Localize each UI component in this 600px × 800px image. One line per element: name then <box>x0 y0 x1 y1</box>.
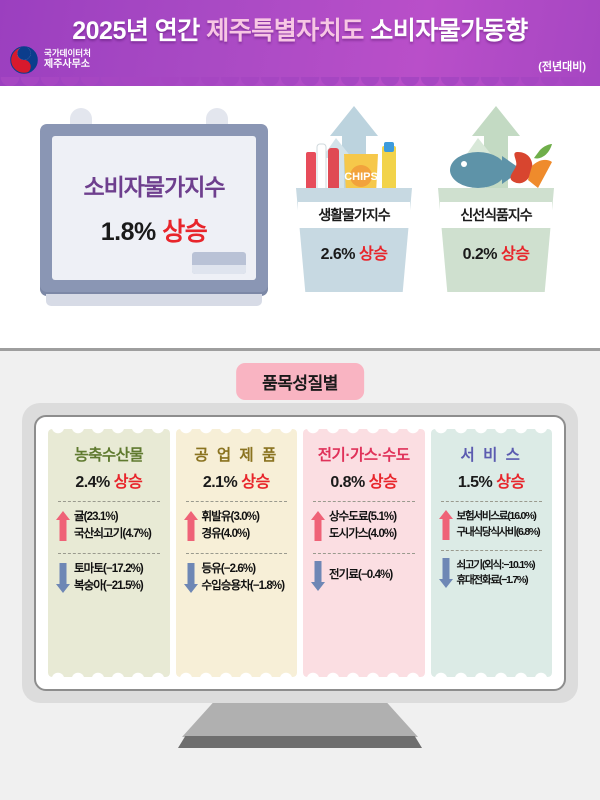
agency-line-1: 국가데이터처 <box>44 49 91 59</box>
goods-illustration-icon: CHIPS <box>304 136 408 194</box>
rising-items-group-2: 상수도료(5.1%) 도시가스(4.0%) <box>309 509 419 544</box>
sub-index-value-row-1: 0.2% 상승 <box>438 240 554 264</box>
item: 도시가스(4.0%) <box>329 526 419 543</box>
rising-items-group-1: 휘발유(3.0%) 경유(4.0%) <box>182 509 292 544</box>
board-base <box>46 294 262 306</box>
category-card-industrial: 공 업 제 품 2.1% 상승 휘발유(3.0%) 경유(4.0%) <box>176 429 298 677</box>
arrow-up-icon <box>56 511 70 541</box>
sub-index-value-1: 0.2% <box>463 246 497 263</box>
item: 전기료(−0.4%) <box>329 567 419 584</box>
headline-indices-section: 소비자물가지수 1.8% 상승 <box>0 86 600 348</box>
sub-index-value-0: 2.6% <box>321 246 355 263</box>
item: 등유(−2.6%) <box>202 561 292 578</box>
cpi-whiteboard: 소비자물가지수 1.8% 상승 <box>36 108 274 323</box>
sub-index-card-1: 신선식품지수 0.2% 상승 <box>438 188 554 292</box>
sub-index-direction-0: 상승 <box>359 246 387 263</box>
rising-items-0: 귤(23.1%) 국산쇠고기(4.7%) <box>74 509 164 544</box>
divider-dashed <box>313 553 415 554</box>
monitor-screen: 농축수산물 2.4% 상승 귤(23.1%) 국산쇠고기(4.7%) <box>34 415 566 691</box>
category-value-row-1: 2.1% 상승 <box>182 468 292 492</box>
board-frame: 소비자물가지수 1.8% 상승 <box>40 124 268 292</box>
category-title-3: 서 비 스 <box>437 443 547 465</box>
svg-text:CHIPS: CHIPS <box>344 171 378 183</box>
arrow-up-icon <box>439 510 453 540</box>
category-value-0: 2.4% <box>75 474 109 491</box>
item: 휴대전화료(−1.7%) <box>457 573 547 589</box>
divider-dashed <box>58 553 160 554</box>
cpi-direction: 상승 <box>162 218 207 246</box>
arrow-down-icon <box>184 563 198 593</box>
rising-items-3: 보험서비스료(16.0%) 구내식당식사비(6.8%) <box>457 509 547 541</box>
item: 구내식당식사비(6.8%) <box>457 525 547 541</box>
item: 복숭아(−21.5%) <box>74 578 164 595</box>
cpi-label: 소비자물가지수 <box>83 168 224 202</box>
agency-name: 국가데이터처 제주사무소 <box>44 49 91 70</box>
divider-dashed <box>441 501 543 502</box>
monitor-frame: 농축수산물 2.4% 상승 귤(23.1%) 국산쇠고기(4.7%) <box>22 403 578 703</box>
rising-items-group-0: 귤(23.1%) 국산쇠고기(4.7%) <box>54 509 164 544</box>
arrow-up-icon <box>184 511 198 541</box>
category-direction-0: 상승 <box>114 474 142 491</box>
item: 보험서비스료(16.0%) <box>457 509 547 525</box>
arrow-down-icon <box>439 558 453 588</box>
monitor-stand <box>182 703 418 737</box>
falling-items-group-0: 토마토(−17.2%) 복숭아(−21.5%) <box>54 561 164 596</box>
category-title-0: 농축수산물 <box>54 443 164 465</box>
item: 수입승용차(−1.8%) <box>202 578 292 595</box>
eraser-icon <box>192 252 246 274</box>
category-value-row-2: 0.8% 상승 <box>309 468 419 492</box>
comparison-note: (전년대비) <box>538 58 586 74</box>
item: 토마토(−17.2%) <box>74 561 164 578</box>
category-title-1: 공 업 제 품 <box>182 443 292 465</box>
category-direction-2: 상승 <box>369 474 397 491</box>
category-direction-3: 상승 <box>496 474 524 491</box>
category-value-row-3: 1.5% 상승 <box>437 468 547 492</box>
sub-indices-group: CHIPS 생활물가지수 2.6% 상승 <box>288 92 588 332</box>
category-card-services: 서 비 스 1.5% 상승 보험서비스료(16.0%) 구내식당식사비(6.8%… <box>431 429 553 677</box>
arrow-down-icon <box>56 563 70 593</box>
infographic-page: 2025년 연간 제주특별자치도 소비자물가동향 국가데이터처 제주사무소 (전… <box>0 0 600 800</box>
divider-dashed <box>186 501 288 502</box>
monitor-stand-base <box>178 736 422 748</box>
sub-index-label-0: 생활물가지수 <box>298 202 410 228</box>
sub-index-value-row-0: 2.6% 상승 <box>296 240 412 264</box>
category-card-utilities: 전기·가스·수도 0.8% 상승 상수도료(5.1%) 도시가스(4.0%) <box>303 429 425 677</box>
divider-dashed <box>441 550 543 551</box>
rising-items-1: 휘발유(3.0%) 경유(4.0%) <box>202 509 292 544</box>
falling-items-0: 토마토(−17.2%) 복숭아(−21.5%) <box>74 561 164 596</box>
rising-items-2: 상수도료(5.1%) 도시가스(4.0%) <box>329 509 419 544</box>
falling-items-2: 전기료(−0.4%) <box>329 567 419 584</box>
falling-items-group-3: 쇠고기(외식:−10.1%) 휴대전화료(−1.7%) <box>437 558 547 590</box>
agency-logo: 국가데이터처 제주사무소 <box>10 46 91 74</box>
sub-index-label-1: 신선식품지수 <box>440 202 552 228</box>
rising-items-group-3: 보험서비스료(16.0%) 구내식당식사비(6.8%) <box>437 509 547 541</box>
agency-line-2: 제주사무소 <box>44 59 91 71</box>
cpi-value-row: 1.8% 상승 <box>101 212 207 248</box>
category-section: 품목성질별 농축수산물 2.4% 상승 귤(23.1%) <box>0 351 600 800</box>
arrow-up-icon <box>311 511 325 541</box>
item: 국산쇠고기(4.7%) <box>74 526 164 543</box>
arrow-down-icon <box>311 561 325 591</box>
falling-items-1: 등유(−2.6%) 수입승용차(−1.8%) <box>202 561 292 596</box>
divider-dashed <box>186 553 288 554</box>
title-prefix: 2025년 연간 <box>72 17 206 45</box>
item: 휘발유(3.0%) <box>202 509 292 526</box>
taegeuk-icon <box>10 46 38 74</box>
item: 상수도료(5.1%) <box>329 509 419 526</box>
sub-index-direction-1: 상승 <box>501 246 529 263</box>
category-value-3: 1.5% <box>458 474 492 491</box>
divider-dashed <box>58 501 160 502</box>
category-value-2: 0.8% <box>330 474 364 491</box>
falling-items-group-2: 전기료(−0.4%) <box>309 561 419 591</box>
board-surface: 소비자물가지수 1.8% 상승 <box>52 136 256 280</box>
title-suffix: 소비자물가동향 <box>364 17 528 45</box>
item: 쇠고기(외식:−10.1%) <box>457 558 547 574</box>
divider-dashed <box>313 501 415 502</box>
category-direction-1: 상승 <box>241 474 269 491</box>
category-value-row-0: 2.4% 상승 <box>54 468 164 492</box>
header-banner: 2025년 연간 제주특별자치도 소비자물가동향 국가데이터처 제주사무소 (전… <box>0 0 600 86</box>
fresh-food-illustration-icon <box>444 136 554 194</box>
title-highlight: 제주특별자치도 <box>206 17 364 45</box>
sub-index-card-0: 생활물가지수 2.6% 상승 <box>296 188 412 292</box>
falling-items-group-1: 등유(−2.6%) 수입승용차(−1.8%) <box>182 561 292 596</box>
category-card-agri: 농축수산물 2.4% 상승 귤(23.1%) 국산쇠고기(4.7%) <box>48 429 170 677</box>
item: 경유(4.0%) <box>202 526 292 543</box>
falling-items-3: 쇠고기(외식:−10.1%) 휴대전화료(−1.7%) <box>457 558 547 590</box>
item: 귤(23.1%) <box>74 509 164 526</box>
page-title: 2025년 연간 제주특별자치도 소비자물가동향 <box>0 0 600 47</box>
category-value-1: 2.1% <box>203 474 237 491</box>
category-title-2: 전기·가스·수도 <box>309 443 419 465</box>
cpi-value: 1.8% <box>101 218 156 246</box>
section-badge: 품목성질별 <box>236 363 364 400</box>
